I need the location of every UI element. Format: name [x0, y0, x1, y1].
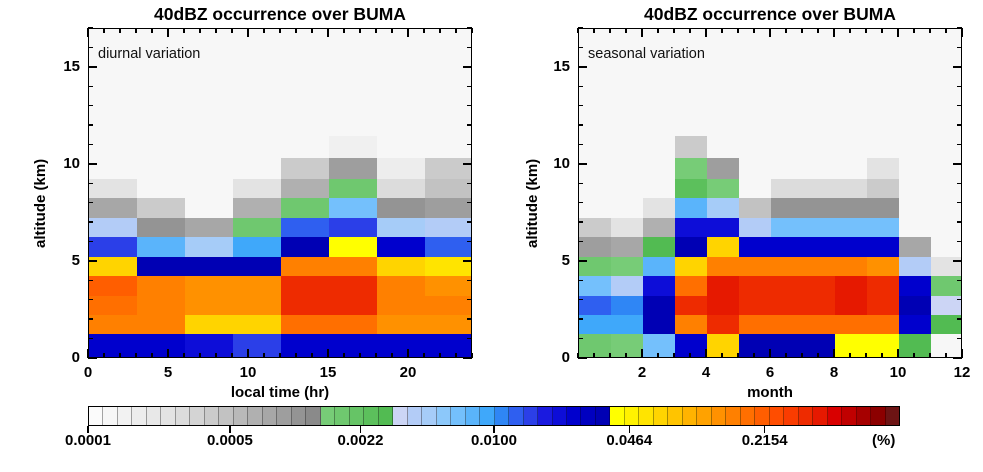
heatmap-cell: [233, 136, 282, 158]
heatmap-cell: [329, 237, 378, 257]
axis-tick: [455, 28, 456, 33]
heatmap-cell: [707, 256, 740, 276]
heatmap-cell: [137, 237, 186, 257]
axis-tick: [467, 144, 472, 145]
x-axis-label-diurnal: local time (hr): [88, 384, 472, 401]
heatmap-cell: [771, 217, 804, 237]
heatmap-cell: [739, 157, 772, 179]
axis-tick: [578, 318, 583, 319]
axis-tick: [849, 353, 850, 358]
colorbar-swatch: [871, 407, 885, 425]
heatmap-cell: [377, 29, 426, 136]
heatmap-cell: [281, 256, 330, 276]
colorbar-swatch: [842, 407, 856, 425]
heatmap-cell: [281, 334, 330, 358]
heatmap-cell: [707, 237, 740, 257]
heatmap-cell: [675, 198, 708, 218]
heatmap-cell: [579, 136, 612, 158]
heatmap-cell: [611, 295, 644, 315]
heatmap-cell: [185, 178, 234, 198]
axis-tick: [578, 260, 587, 262]
axis-tick: [578, 338, 583, 339]
axis-tick: [673, 353, 674, 358]
heatmap-cell: [233, 178, 282, 198]
x-tick-label: 20: [386, 364, 430, 381]
axis-tick: [88, 357, 97, 359]
heatmap-cell: [643, 136, 676, 158]
axis-tick: [215, 28, 216, 33]
heatmap-cell: [425, 217, 472, 237]
heatmap-cell: [281, 217, 330, 237]
axis-tick: [88, 86, 93, 87]
figure-canvas: 40dBZ occurrence over BUMA diurnal varia…: [0, 0, 983, 472]
heatmap-cell: [579, 237, 612, 257]
axis-tick: [311, 353, 312, 358]
colorbar-swatch: [379, 407, 393, 425]
heatmap-cell: [579, 178, 612, 198]
heatmap-cell: [579, 295, 612, 315]
axis-tick: [913, 353, 914, 358]
heatmap-cell: [137, 295, 186, 315]
axis-tick: [327, 28, 329, 37]
heatmap-cell: [707, 276, 740, 296]
axis-tick: [247, 28, 249, 37]
axis-tick: [467, 47, 472, 48]
heatmap-cell: [739, 314, 772, 334]
colorbar-swatch: [683, 407, 697, 425]
colorbar-swatch: [393, 407, 407, 425]
heatmap-cell: [643, 276, 676, 296]
heatmap-cell: [281, 276, 330, 296]
axis-tick: [88, 299, 93, 300]
heatmap-cell: [425, 136, 472, 158]
axis-tick: [231, 28, 232, 33]
x-tick-label: 4: [684, 364, 728, 381]
heatmap-cell: [425, 178, 472, 198]
y-axis-label-diurnal: altitude (km): [32, 159, 49, 248]
heatmap-cell: [579, 276, 612, 296]
heatmap-cell: [425, 314, 472, 334]
axis-tick: [295, 353, 296, 358]
axis-tick: [737, 353, 738, 358]
heatmap-cell: [137, 256, 186, 276]
axis-tick: [327, 349, 329, 358]
colorbar-swatch: [364, 407, 378, 425]
heatmap-cell: [867, 256, 900, 276]
heatmap-cell: [931, 178, 962, 198]
heatmap-cell: [329, 136, 378, 158]
heatmap-cell: [899, 136, 932, 158]
heatmap-cell: [377, 157, 426, 179]
colorbar-swatch: [625, 407, 639, 425]
heatmap-cell: [835, 334, 868, 358]
heatmap-cell: [281, 29, 330, 136]
axis-tick: [953, 260, 962, 262]
heatmap-cell: [611, 237, 644, 257]
axis-tick: [957, 27, 962, 28]
axis-tick: [817, 28, 818, 33]
axis-tick: [88, 318, 93, 319]
colorbar-swatch: [755, 407, 769, 425]
x-tick-label: 8: [812, 364, 856, 381]
colorbar-swatch: [263, 407, 277, 425]
colorbar-swatch: [161, 407, 175, 425]
colorbar-swatch: [813, 407, 827, 425]
colorbar-swatch: [422, 407, 436, 425]
colorbar-swatch: [668, 407, 682, 425]
heatmap-cell: [803, 256, 836, 276]
axis-tick: [88, 144, 93, 145]
axis-tick: [957, 124, 962, 125]
heatmap-cell: [643, 157, 676, 179]
x-tick-label: 2: [620, 364, 664, 381]
x-tick-label: 10: [876, 364, 920, 381]
heatmap-cell: [867, 217, 900, 237]
heatmap-cell: [835, 198, 868, 218]
colorbar-swatch: [741, 407, 755, 425]
heatmap-cell: [377, 178, 426, 198]
heatmap-cell: [739, 237, 772, 257]
heatmap-cell: [707, 314, 740, 334]
heatmap-cell: [739, 217, 772, 237]
axis-tick: [467, 202, 472, 203]
axis-tick: [593, 353, 594, 358]
heatmap-cell: [931, 276, 962, 296]
heatmap-cell: [185, 237, 234, 257]
heatmap-cell: [137, 178, 186, 198]
axis-tick: [578, 163, 587, 165]
heatmap-cell: [931, 295, 962, 315]
colorbar-swatch: [190, 407, 204, 425]
axis-tick: [391, 28, 392, 33]
heatmap-cell: [835, 256, 868, 276]
axis-tick: [455, 353, 456, 358]
colorbar-swatch: [205, 407, 219, 425]
axis-tick: [957, 299, 962, 300]
heatmap-cell: [233, 256, 282, 276]
colorbar-swatch: [886, 407, 899, 425]
y-tick-label: 0: [44, 349, 80, 366]
axis-tick: [87, 28, 89, 37]
heatmap-cell: [329, 217, 378, 237]
axis-tick: [103, 28, 104, 33]
axis-tick: [88, 183, 93, 184]
axis-tick: [119, 28, 120, 33]
axis-tick: [945, 353, 946, 358]
axis-tick: [407, 349, 409, 358]
axis-tick: [929, 28, 930, 33]
heatmap-cell: [899, 276, 932, 296]
heatmap-cell: [835, 136, 868, 158]
heatmap-cell: [643, 314, 676, 334]
colorbar-swatch: [335, 407, 349, 425]
axis-tick: [833, 349, 835, 358]
heatmap-cell: [803, 136, 836, 158]
heatmap-cell: [867, 136, 900, 158]
axis-tick: [689, 28, 690, 33]
axis-tick: [705, 349, 707, 358]
colorbar-swatch: [118, 407, 132, 425]
axis-tick: [88, 241, 93, 242]
colorbar-swatch: [350, 407, 364, 425]
heatmap-cell: [931, 29, 962, 136]
axis-tick: [769, 28, 771, 37]
axis-tick: [407, 28, 409, 37]
heatmap-cell: [611, 256, 644, 276]
heatmap-cell: [377, 217, 426, 237]
axis-tick: [423, 353, 424, 358]
heatmap-cell: [771, 29, 804, 136]
heatmap-cell: [377, 237, 426, 257]
heatmap-cell: [803, 157, 836, 179]
axis-tick: [463, 357, 472, 359]
heatmap-cell: [771, 237, 804, 257]
y-tick-label: 10: [44, 155, 80, 172]
y-tick-label: 5: [44, 252, 80, 269]
colorbar-swatch: [524, 407, 538, 425]
heatmap-cell: [771, 178, 804, 198]
axis-tick: [578, 144, 583, 145]
heatmap-cell: [643, 178, 676, 198]
heatmap-cell: [281, 178, 330, 198]
heatmap-cell: [579, 334, 612, 358]
heatmap-cell: [675, 276, 708, 296]
colorbar-tick-label: 0.0100: [444, 432, 544, 449]
axis-tick: [689, 353, 690, 358]
x-tick-label: 10: [226, 364, 270, 381]
heatmap-cell: [739, 136, 772, 158]
colorbar-swatch: [712, 407, 726, 425]
colorbar-tick-label: 0.0005: [180, 432, 280, 449]
axis-tick: [151, 28, 152, 33]
heatmap-cell: [329, 295, 378, 315]
colorbar-swatch: [306, 407, 320, 425]
heatmap-cell: [835, 29, 868, 136]
axis-tick: [88, 27, 93, 28]
colorbar-swatch: [495, 407, 509, 425]
axis-tick: [673, 28, 674, 33]
heatmap-cell: [137, 136, 186, 158]
heatmap-cell: [803, 314, 836, 334]
heatmap-cell: [281, 237, 330, 257]
axis-tick: [801, 28, 802, 33]
axis-tick: [785, 28, 786, 33]
heatmap-cell: [867, 334, 900, 358]
colorbar-swatch: [480, 407, 494, 425]
axis-tick: [167, 28, 169, 37]
colorbar-tick-label: 0.0022: [311, 432, 411, 449]
heatmap-cell: [185, 256, 234, 276]
heatmap-cell: [739, 334, 772, 358]
heatmap-cell: [425, 295, 472, 315]
axis-tick: [945, 28, 946, 33]
heatmap-cell: [281, 136, 330, 158]
colorbar-swatch: [132, 407, 146, 425]
axis-tick: [609, 28, 610, 33]
axis-tick: [467, 183, 472, 184]
axis-tick: [199, 353, 200, 358]
heatmap-cell: [771, 256, 804, 276]
heatmap-cell: [899, 334, 932, 358]
heatmap-cell: [611, 178, 644, 198]
axis-tick: [103, 353, 104, 358]
heatmap-cell: [233, 295, 282, 315]
y-tick-label: 15: [534, 58, 570, 75]
heatmap-cell: [579, 217, 612, 237]
heatmap-cell: [89, 276, 138, 296]
heatmap-cell: [867, 295, 900, 315]
heatmap-cell: [233, 217, 282, 237]
panel-annotation-diurnal: diurnal variation: [98, 46, 200, 62]
colorbar-swatch: [770, 407, 784, 425]
colorbar-swatch: [321, 407, 335, 425]
axis-tick: [183, 28, 184, 33]
heatmap-cell: [771, 198, 804, 218]
heatmap-cell: [803, 178, 836, 198]
heatmap-cell: [675, 237, 708, 257]
heatmap-cell: [739, 178, 772, 198]
heatmap-cell: [611, 314, 644, 334]
heatmap-cell: [185, 157, 234, 179]
axis-tick: [957, 202, 962, 203]
axis-tick: [657, 28, 658, 33]
colorbar-swatch: [408, 407, 422, 425]
heatmap-cell: [867, 178, 900, 198]
axis-tick: [467, 299, 472, 300]
heatmap-cell: [233, 276, 282, 296]
axis-tick: [957, 86, 962, 87]
axis-tick: [897, 349, 899, 358]
heatmap-cell: [579, 314, 612, 334]
heatmap-cell: [643, 256, 676, 276]
heatmap-cell: [803, 198, 836, 218]
heatmap-cell: [835, 157, 868, 179]
axis-tick: [881, 28, 882, 33]
heatmap-cell: [643, 334, 676, 358]
axis-tick: [295, 28, 296, 33]
heatmap-cell: [835, 178, 868, 198]
heatmap-cell: [739, 29, 772, 136]
heatmap-cell: [137, 276, 186, 296]
plot-area-diurnal: [88, 28, 472, 358]
axis-tick: [721, 353, 722, 358]
heatmap-cell: [771, 157, 804, 179]
heatmap-cell: [931, 136, 962, 158]
axis-tick: [625, 28, 626, 33]
heatmap-cell: [425, 198, 472, 218]
axis-tick: [359, 28, 360, 33]
heatmap-cell: [89, 314, 138, 334]
axis-tick: [88, 163, 97, 165]
axis-tick: [753, 353, 754, 358]
heatmap-cell: [329, 256, 378, 276]
heatmap-cell: [707, 178, 740, 198]
heatmap-cell: [89, 237, 138, 257]
heatmap-cell: [233, 29, 282, 136]
axis-tick: [88, 338, 93, 339]
heatmap-cell: [899, 237, 932, 257]
axis-tick: [375, 353, 376, 358]
axis-tick: [578, 86, 583, 87]
axis-tick: [577, 28, 578, 33]
heatmap-cell: [707, 217, 740, 237]
heatmap-cell: [867, 237, 900, 257]
axis-tick: [463, 163, 472, 165]
heatmap-cell: [185, 295, 234, 315]
axis-tick: [199, 28, 200, 33]
heatmap-cell: [739, 295, 772, 315]
heatmap-cell: [867, 29, 900, 136]
heatmap-cell: [425, 334, 472, 358]
colorbar-swatch: [857, 407, 871, 425]
heatmap-cell: [643, 217, 676, 237]
heatmap-cell: [739, 276, 772, 296]
colorbar-tick-label: 0.2154: [715, 432, 815, 449]
axis-tick: [865, 353, 866, 358]
axis-tick: [609, 353, 610, 358]
heatmap-cell: [931, 237, 962, 257]
heatmap-cell: [899, 217, 932, 237]
axis-tick: [881, 353, 882, 358]
heatmap-cell: [377, 334, 426, 358]
colorbar-swatch: [234, 407, 248, 425]
axis-tick: [578, 221, 583, 222]
axis-tick: [625, 353, 626, 358]
heatmap-cell: [425, 276, 472, 296]
colorbar-swatch: [219, 407, 233, 425]
heatmap-cell: [675, 217, 708, 237]
axis-tick: [578, 47, 583, 48]
axis-tick: [929, 353, 930, 358]
heatmap-cell: [707, 334, 740, 358]
axis-tick: [88, 124, 93, 125]
y-axis-label-seasonal: altitude (km): [524, 159, 541, 248]
x-tick-label: 15: [306, 364, 350, 381]
heatmap-cell: [281, 198, 330, 218]
axis-tick: [467, 241, 472, 242]
heatmap-cell: [803, 276, 836, 296]
heatmap-cell: [233, 334, 282, 358]
axis-tick: [961, 28, 963, 37]
axis-tick: [578, 280, 583, 281]
colorbar-swatch: [697, 407, 711, 425]
heatmap-cell: [185, 136, 234, 158]
heatmap-cell: [425, 157, 472, 179]
colorbar-swatch: [437, 407, 451, 425]
colorbar-swatch: [784, 407, 798, 425]
heatmap-cell: [281, 295, 330, 315]
heatmap-cell: [803, 29, 836, 136]
axis-tick: [833, 28, 835, 37]
axis-tick: [578, 124, 583, 125]
heatmap-cell: [233, 198, 282, 218]
colorbar-swatch: [292, 407, 306, 425]
axis-tick: [753, 28, 754, 33]
axis-tick: [463, 260, 472, 262]
colorbar: [88, 406, 900, 426]
heatmap-cell: [643, 198, 676, 218]
axis-tick: [849, 28, 850, 33]
axis-tick: [467, 124, 472, 125]
axis-tick: [135, 28, 136, 33]
heatmap-cell: [643, 295, 676, 315]
heatmap-cell: [611, 136, 644, 158]
heatmap-cell: [137, 217, 186, 237]
heatmap-cell: [329, 29, 378, 136]
heatmap-cell: [611, 157, 644, 179]
axis-tick: [737, 28, 738, 33]
y-tick-label: 0: [534, 349, 570, 366]
